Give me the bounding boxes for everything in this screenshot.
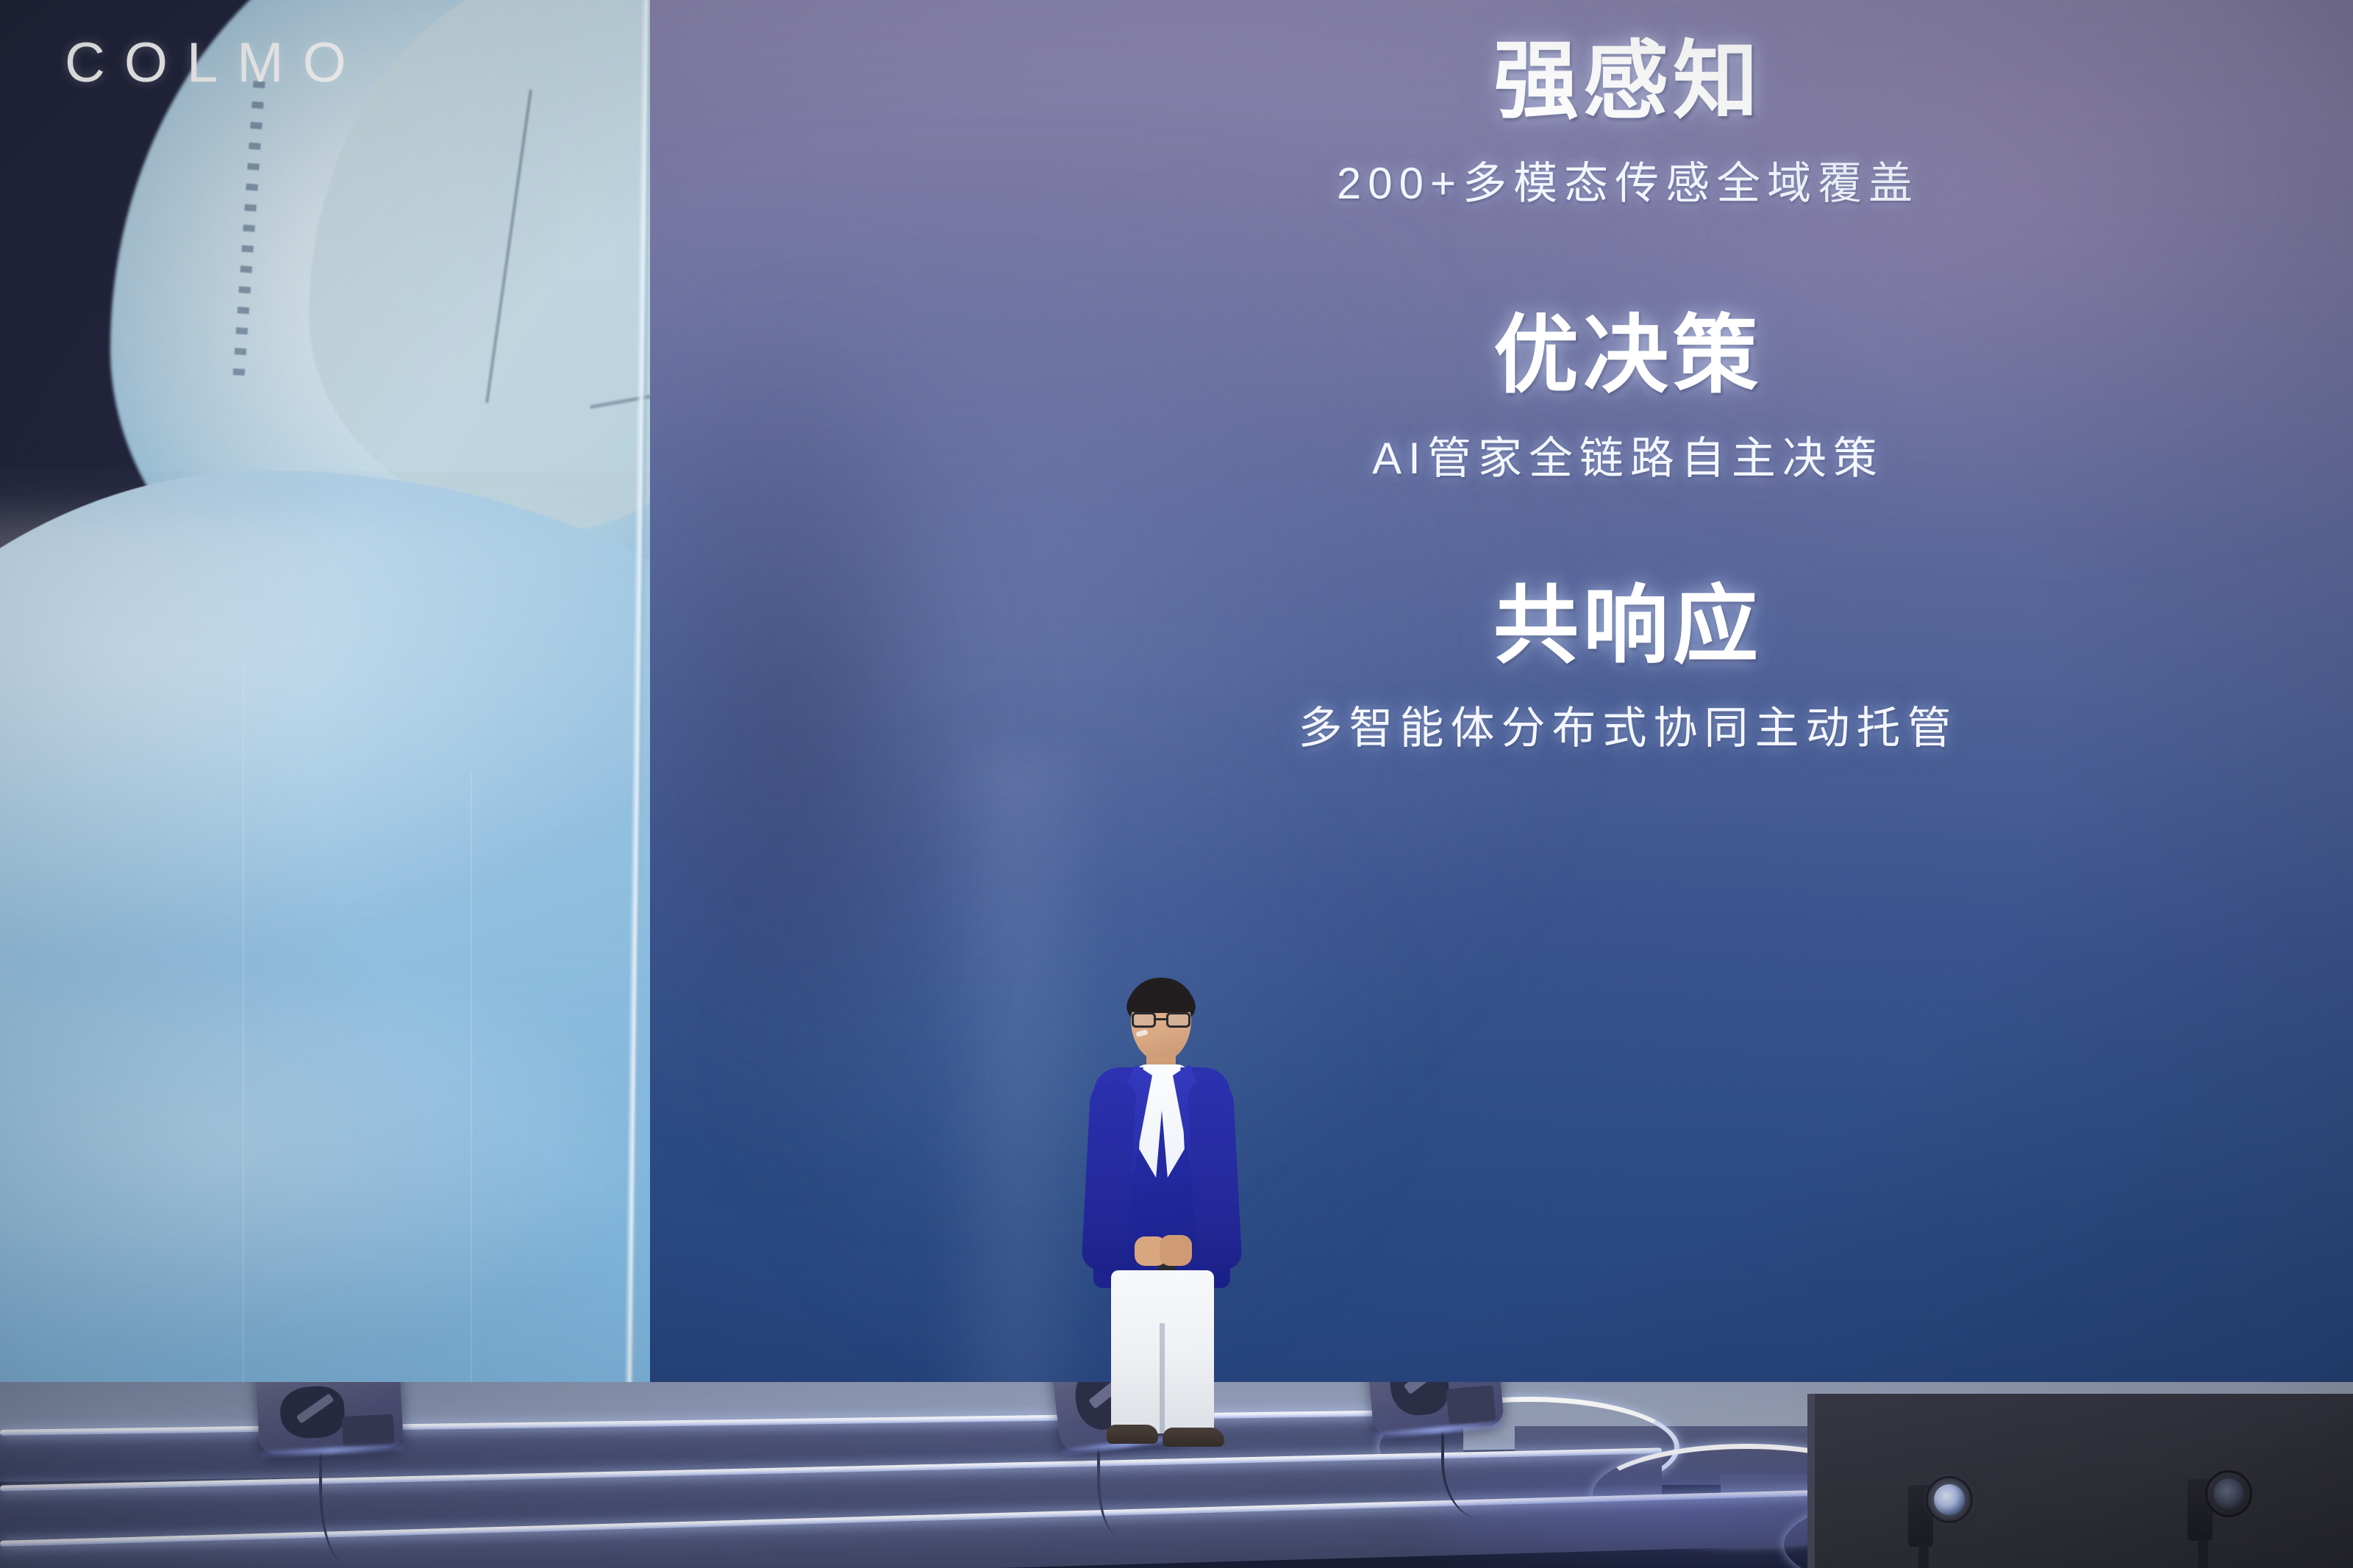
slide-subline-2: AI管家全链路自主决策 <box>1372 434 1884 483</box>
presenter-hand-right <box>1160 1235 1192 1266</box>
slide-headline-1: 强感知 <box>1493 35 1763 127</box>
presenter-figure <box>1055 978 1268 1448</box>
presenter-glasses <box>1132 1012 1190 1028</box>
slide-headline-2: 优决策 <box>1493 309 1763 401</box>
stage-wing-edge <box>1807 1394 1815 1568</box>
slide-block-2: 优决策 AI管家全链路自主决策 <box>1062 309 2194 482</box>
keynote-stage-photo: 强感知 200+多模态传感全域覆盖 优决策 AI管家全链路自主决策 共响应 多智… <box>0 0 2353 1568</box>
slide-subline-3: 多智能体分布式协同主动托管 <box>1299 704 1958 753</box>
presenter-hair-top <box>1126 981 1196 1013</box>
stage-monitor-speaker-left <box>255 1382 404 1455</box>
abstract-highlight-a <box>0 515 662 985</box>
left-led-panel <box>0 0 662 1441</box>
slide-block-1: 强感知 200+多模态传感全域覆盖 <box>1062 35 2194 208</box>
presenter-arm-right <box>1187 1080 1242 1272</box>
presenter-trouser-seam <box>1160 1323 1165 1433</box>
stage-monitor-speaker-right <box>1365 1382 1504 1436</box>
slide-block-3: 共响应 多智能体分布式协同主动托管 <box>1062 580 2194 753</box>
slide-subline-1: 200+多模态传感全域覆盖 <box>1337 160 1919 208</box>
stage-wing-panel <box>1813 1394 2353 1568</box>
presenter-shoe-right <box>1163 1428 1224 1447</box>
presenter-shoe-left <box>1107 1425 1158 1444</box>
panel-seam-line-2 <box>471 772 472 1382</box>
slide-text-stack: 强感知 200+多模态传感全域覆盖 优决策 AI管家全链路自主决策 共响应 多智… <box>1062 0 2194 1029</box>
slide-headline-3: 共响应 <box>1493 580 1763 672</box>
abstract-highlight-b <box>0 992 662 1375</box>
colmo-brand-logo: COLMO <box>65 35 365 91</box>
panel-seam-line-1 <box>243 662 244 1382</box>
main-led-screen: 强感知 200+多模态传感全域覆盖 优决策 AI管家全链路自主决策 共响应 多智… <box>650 0 2353 1442</box>
